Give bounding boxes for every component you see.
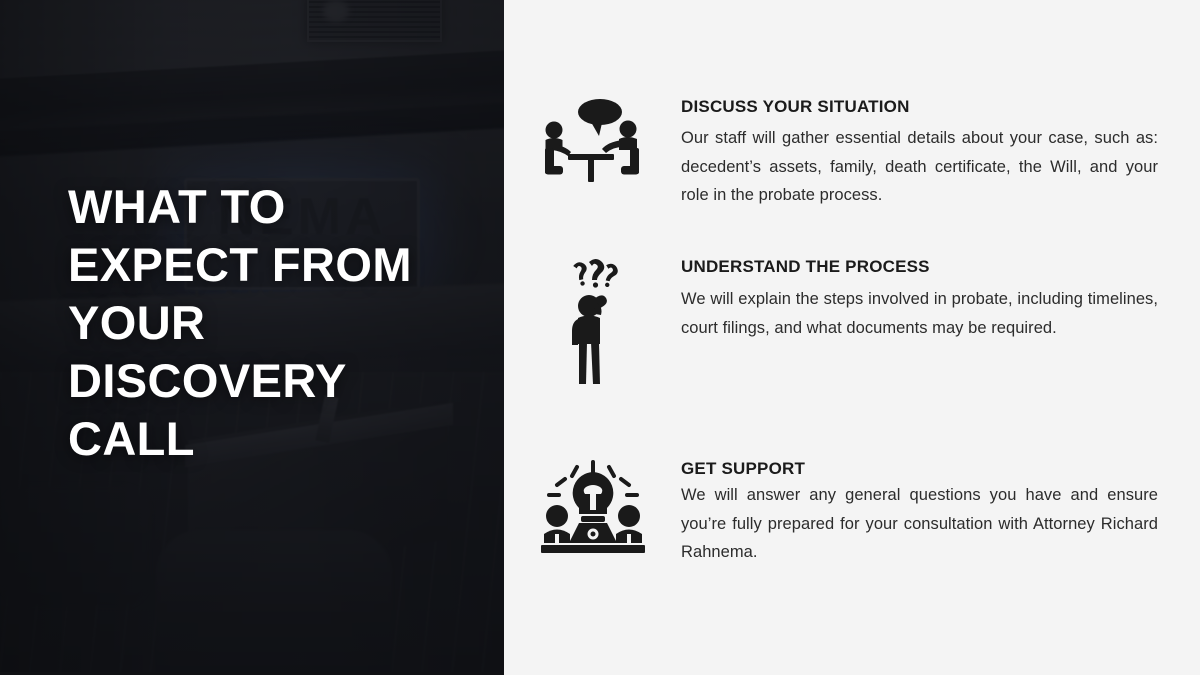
list-item-body: We will answer any general questions you… — [681, 481, 1158, 567]
slide-root: NEMA LAW WHAT TO EXPECT FROM YOUR DISCOV… — [0, 0, 1200, 675]
content-panel: DISCUSS YOUR SITUATION Our staff will ga… — [504, 0, 1200, 675]
list-item-heading: GET SUPPORT — [681, 458, 1158, 480]
list-item: DISCUSS YOUR SITUATION Our staff will ga… — [504, 96, 1200, 210]
step-text: GET SUPPORT We will answer any general q… — [681, 458, 1200, 567]
left-hero-panel: NEMA LAW WHAT TO EXPECT FROM YOUR DISCOV… — [0, 0, 504, 675]
list-item-body: We will explain the steps involved in pr… — [681, 285, 1158, 342]
step-text: UNDERSTAND THE PROCESS We will explain t… — [681, 256, 1200, 342]
lightbulb-team-laptop-icon — [504, 458, 681, 554]
list-item: GET SUPPORT We will answer any general q… — [504, 458, 1200, 567]
confused-person-question-marks-icon — [504, 256, 681, 386]
step-text: DISCUSS YOUR SITUATION Our staff will ga… — [681, 96, 1200, 210]
people-meeting-speech-bubble-icon — [504, 96, 681, 182]
list-item-heading: UNDERSTAND THE PROCESS — [681, 256, 1158, 278]
list-item-body: Our staff will gather essential details … — [681, 124, 1158, 210]
page-title: WHAT TO EXPECT FROM YOUR DISCOVERY CALL — [68, 178, 468, 468]
list-item: UNDERSTAND THE PROCESS We will explain t… — [504, 256, 1200, 386]
list-item-heading: DISCUSS YOUR SITUATION — [681, 96, 1158, 118]
